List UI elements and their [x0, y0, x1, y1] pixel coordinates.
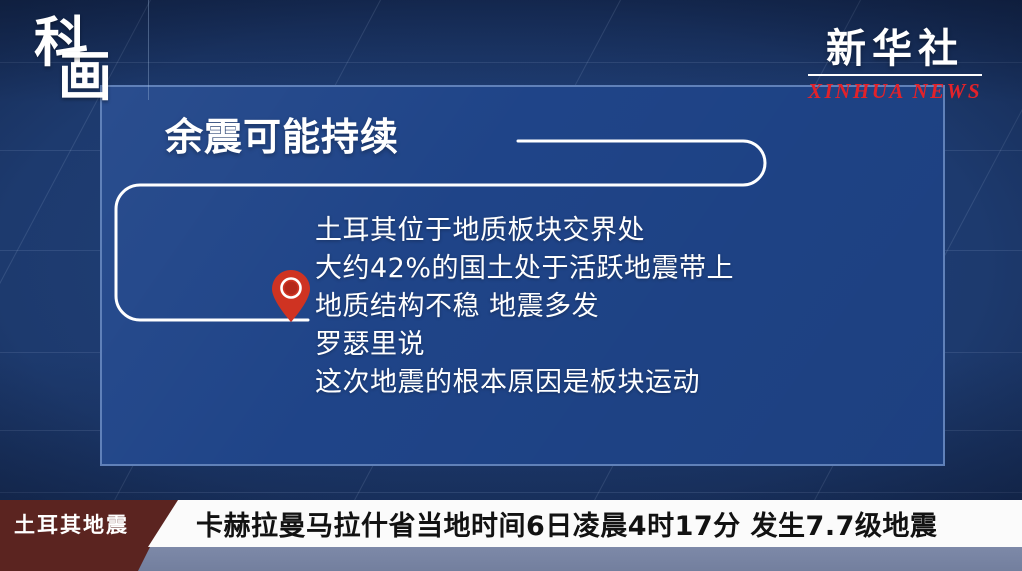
body-line-1: 土耳其位于地质板块交界处: [315, 212, 734, 250]
logo-divider: [148, 0, 149, 100]
bottom-ticker: 土耳其地震 卡赫拉曼马拉什省当地时间6日凌晨4时17分 发生7.7级地震: [0, 500, 1022, 547]
body-line-3: 地质结构不稳 地震多发: [315, 288, 734, 326]
page-title: 余震可能持续: [165, 106, 399, 161]
location-pin-icon: [270, 268, 312, 324]
kehua-logo: 科 画: [34, 16, 140, 112]
body-line-2: 大约42%的国土处于活跃地震带上: [315, 250, 734, 288]
ticker-base-tag-strip: [0, 547, 150, 571]
xinhua-logo-en: XINHUA NEWS: [808, 79, 982, 104]
ticker-base-strip: [0, 547, 1022, 571]
broadcast-graphic-screen: 科 画 新华社 XINHUA NEWS 余震可能持续 土耳其位于地质板块交界处 …: [0, 0, 1022, 571]
xinhua-logo-cn: 新华社: [808, 28, 982, 71]
xinhua-logo-rule: [808, 74, 982, 76]
kehua-logo-char-2: 画: [58, 50, 108, 104]
body-line-4: 罗瑟里说: [315, 326, 734, 364]
body-line-5: 这次地震的根本原因是板块运动: [315, 364, 734, 402]
body-text-block: 土耳其位于地质板块交界处 大约42%的国土处于活跃地震带上 地质结构不稳 地震多…: [315, 212, 734, 402]
ticker-category-tag: 土耳其地震: [0, 500, 178, 547]
xinhua-news-logo: 新华社 XINHUA NEWS: [808, 28, 982, 104]
ticker-headline: 卡赫拉曼马拉什省当地时间6日凌晨4时17分 发生7.7级地震: [196, 500, 937, 547]
